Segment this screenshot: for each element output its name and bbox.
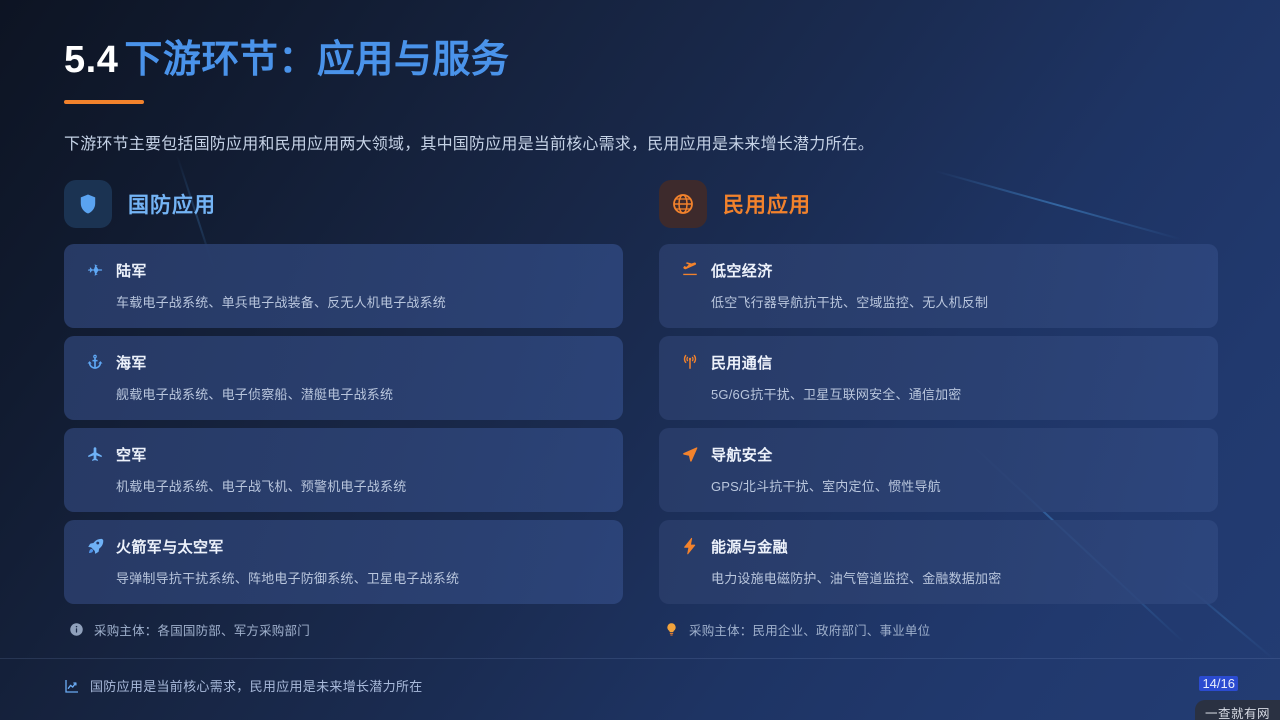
anchor-icon bbox=[86, 353, 104, 371]
card-title: 民用通信 bbox=[711, 352, 773, 373]
card-description: 导弹制导抗干扰系统、阵地电子防御系统、卫星电子战系统 bbox=[116, 568, 601, 587]
card-description: 电力设施电磁防护、油气管道监控、金融数据加密 bbox=[711, 568, 1196, 587]
card-description: 舰载电子战系统、电子侦察船、潜艇电子战系统 bbox=[116, 384, 601, 403]
slide-subtitle: 下游环节主要包括国防应用和民用应用两大领域，其中国防应用是当前核心需求，民用应用… bbox=[64, 130, 874, 154]
page-title-number: 5.4 bbox=[64, 39, 118, 81]
card-title: 海军 bbox=[116, 352, 147, 373]
column-title-civil: 民用应用 bbox=[723, 189, 811, 219]
card-item[interactable]: 海军 舰载电子战系统、电子侦察船、潜艇电子战系统 bbox=[64, 336, 623, 420]
watermark-badge: 一查就有网 bbox=[1195, 700, 1280, 720]
card-item[interactable]: 民用通信 5G/6G抗干扰、卫星互联网安全、通信加密 bbox=[659, 336, 1218, 420]
title-underline-rule bbox=[64, 100, 144, 104]
card-description: 5G/6G抗干扰、卫星互联网安全、通信加密 bbox=[711, 384, 1196, 403]
note-text: 采购主体：各国国防部、军方采购部门 bbox=[94, 620, 310, 639]
slide-canvas: 5.4下游环节：应用与服务 下游环节主要包括国防应用和民用应用两大领域，其中国防… bbox=[0, 0, 1280, 720]
lightning-bolt-icon bbox=[681, 537, 699, 555]
column-header-civil: 民用应用 bbox=[659, 180, 1218, 228]
navigation-arrow-icon bbox=[681, 445, 699, 463]
plane-departure-icon bbox=[681, 261, 699, 279]
chart-line-icon bbox=[64, 678, 80, 694]
card-title: 陆军 bbox=[116, 260, 147, 281]
slide-header: 5.4下游环节：应用与服务 bbox=[64, 40, 509, 104]
card-description: 车载电子战系统、单兵电子战装备、反无人机电子战系统 bbox=[116, 292, 601, 311]
column-defense: 国防应用 陆军 车载电子战系统、单兵电子战装备、反无人机电子战系统 bbox=[64, 180, 623, 639]
card-description: 低空飞行器导航抗干扰、空域监控、无人机反制 bbox=[711, 292, 1196, 311]
footer-summary: 国防应用是当前核心需求，民用应用是未来增长潜力所在 bbox=[64, 676, 423, 695]
plane-icon bbox=[86, 445, 104, 463]
card-title: 导航安全 bbox=[711, 444, 773, 465]
info-circle-icon bbox=[68, 622, 84, 638]
card-title: 火箭军与太空军 bbox=[116, 536, 224, 557]
footer-text: 国防应用是当前核心需求，民用应用是未来增长潜力所在 bbox=[90, 676, 423, 695]
card-item[interactable]: 导航安全 GPS/北斗抗干扰、室内定位、惯性导航 bbox=[659, 428, 1218, 512]
page-title-text: 下游环节：应用与服务 bbox=[124, 39, 509, 81]
note-defense: 采购主体：各国国防部、军方采购部门 bbox=[64, 620, 623, 639]
card-item[interactable]: 空军 机载电子战系统、电子战飞机、预警机电子战系统 bbox=[64, 428, 623, 512]
note-civil: 采购主体：民用企业、政府部门、事业单位 bbox=[659, 620, 1218, 639]
shield-icon bbox=[64, 180, 112, 228]
card-title: 空军 bbox=[116, 444, 147, 465]
column-title-defense: 国防应用 bbox=[128, 189, 216, 219]
columns-container: 国防应用 陆军 车载电子战系统、单兵电子战装备、反无人机电子战系统 bbox=[64, 180, 1218, 639]
card-list-civil: 低空经济 低空飞行器导航抗干扰、空域监控、无人机反制 bbox=[659, 244, 1218, 604]
card-description: GPS/北斗抗干扰、室内定位、惯性导航 bbox=[711, 476, 1196, 495]
card-description: 机载电子战系统、电子战飞机、预警机电子战系统 bbox=[116, 476, 601, 495]
card-title: 能源与金融 bbox=[711, 536, 788, 557]
card-title: 低空经济 bbox=[711, 260, 773, 281]
card-item[interactable]: 低空经济 低空飞行器导航抗干扰、空域监控、无人机反制 bbox=[659, 244, 1218, 328]
page-indicator: 14/16 bbox=[1199, 676, 1238, 691]
column-header-defense: 国防应用 bbox=[64, 180, 623, 228]
broadcast-tower-icon bbox=[681, 353, 699, 371]
card-list-defense: 陆军 车载电子战系统、单兵电子战装备、反无人机电子战系统 海军 舰载电子战系统、… bbox=[64, 244, 623, 604]
lightbulb-icon bbox=[663, 622, 679, 638]
card-item[interactable]: 能源与金融 电力设施电磁防护、油气管道监控、金融数据加密 bbox=[659, 520, 1218, 604]
footer-divider bbox=[0, 658, 1280, 659]
column-civil: 民用应用 低空经济 低空飞行器导航抗干扰、空域监控、无人机反制 bbox=[659, 180, 1218, 639]
rocket-icon bbox=[86, 537, 104, 555]
card-item[interactable]: 火箭军与太空军 导弹制导抗干扰系统、阵地电子防御系统、卫星电子战系统 bbox=[64, 520, 623, 604]
card-item[interactable]: 陆军 车载电子战系统、单兵电子战装备、反无人机电子战系统 bbox=[64, 244, 623, 328]
page-title: 5.4下游环节：应用与服务 bbox=[64, 40, 509, 82]
globe-icon bbox=[659, 180, 707, 228]
note-text: 采购主体：民用企业、政府部门、事业单位 bbox=[689, 620, 930, 639]
fighter-jet-icon bbox=[86, 261, 104, 279]
